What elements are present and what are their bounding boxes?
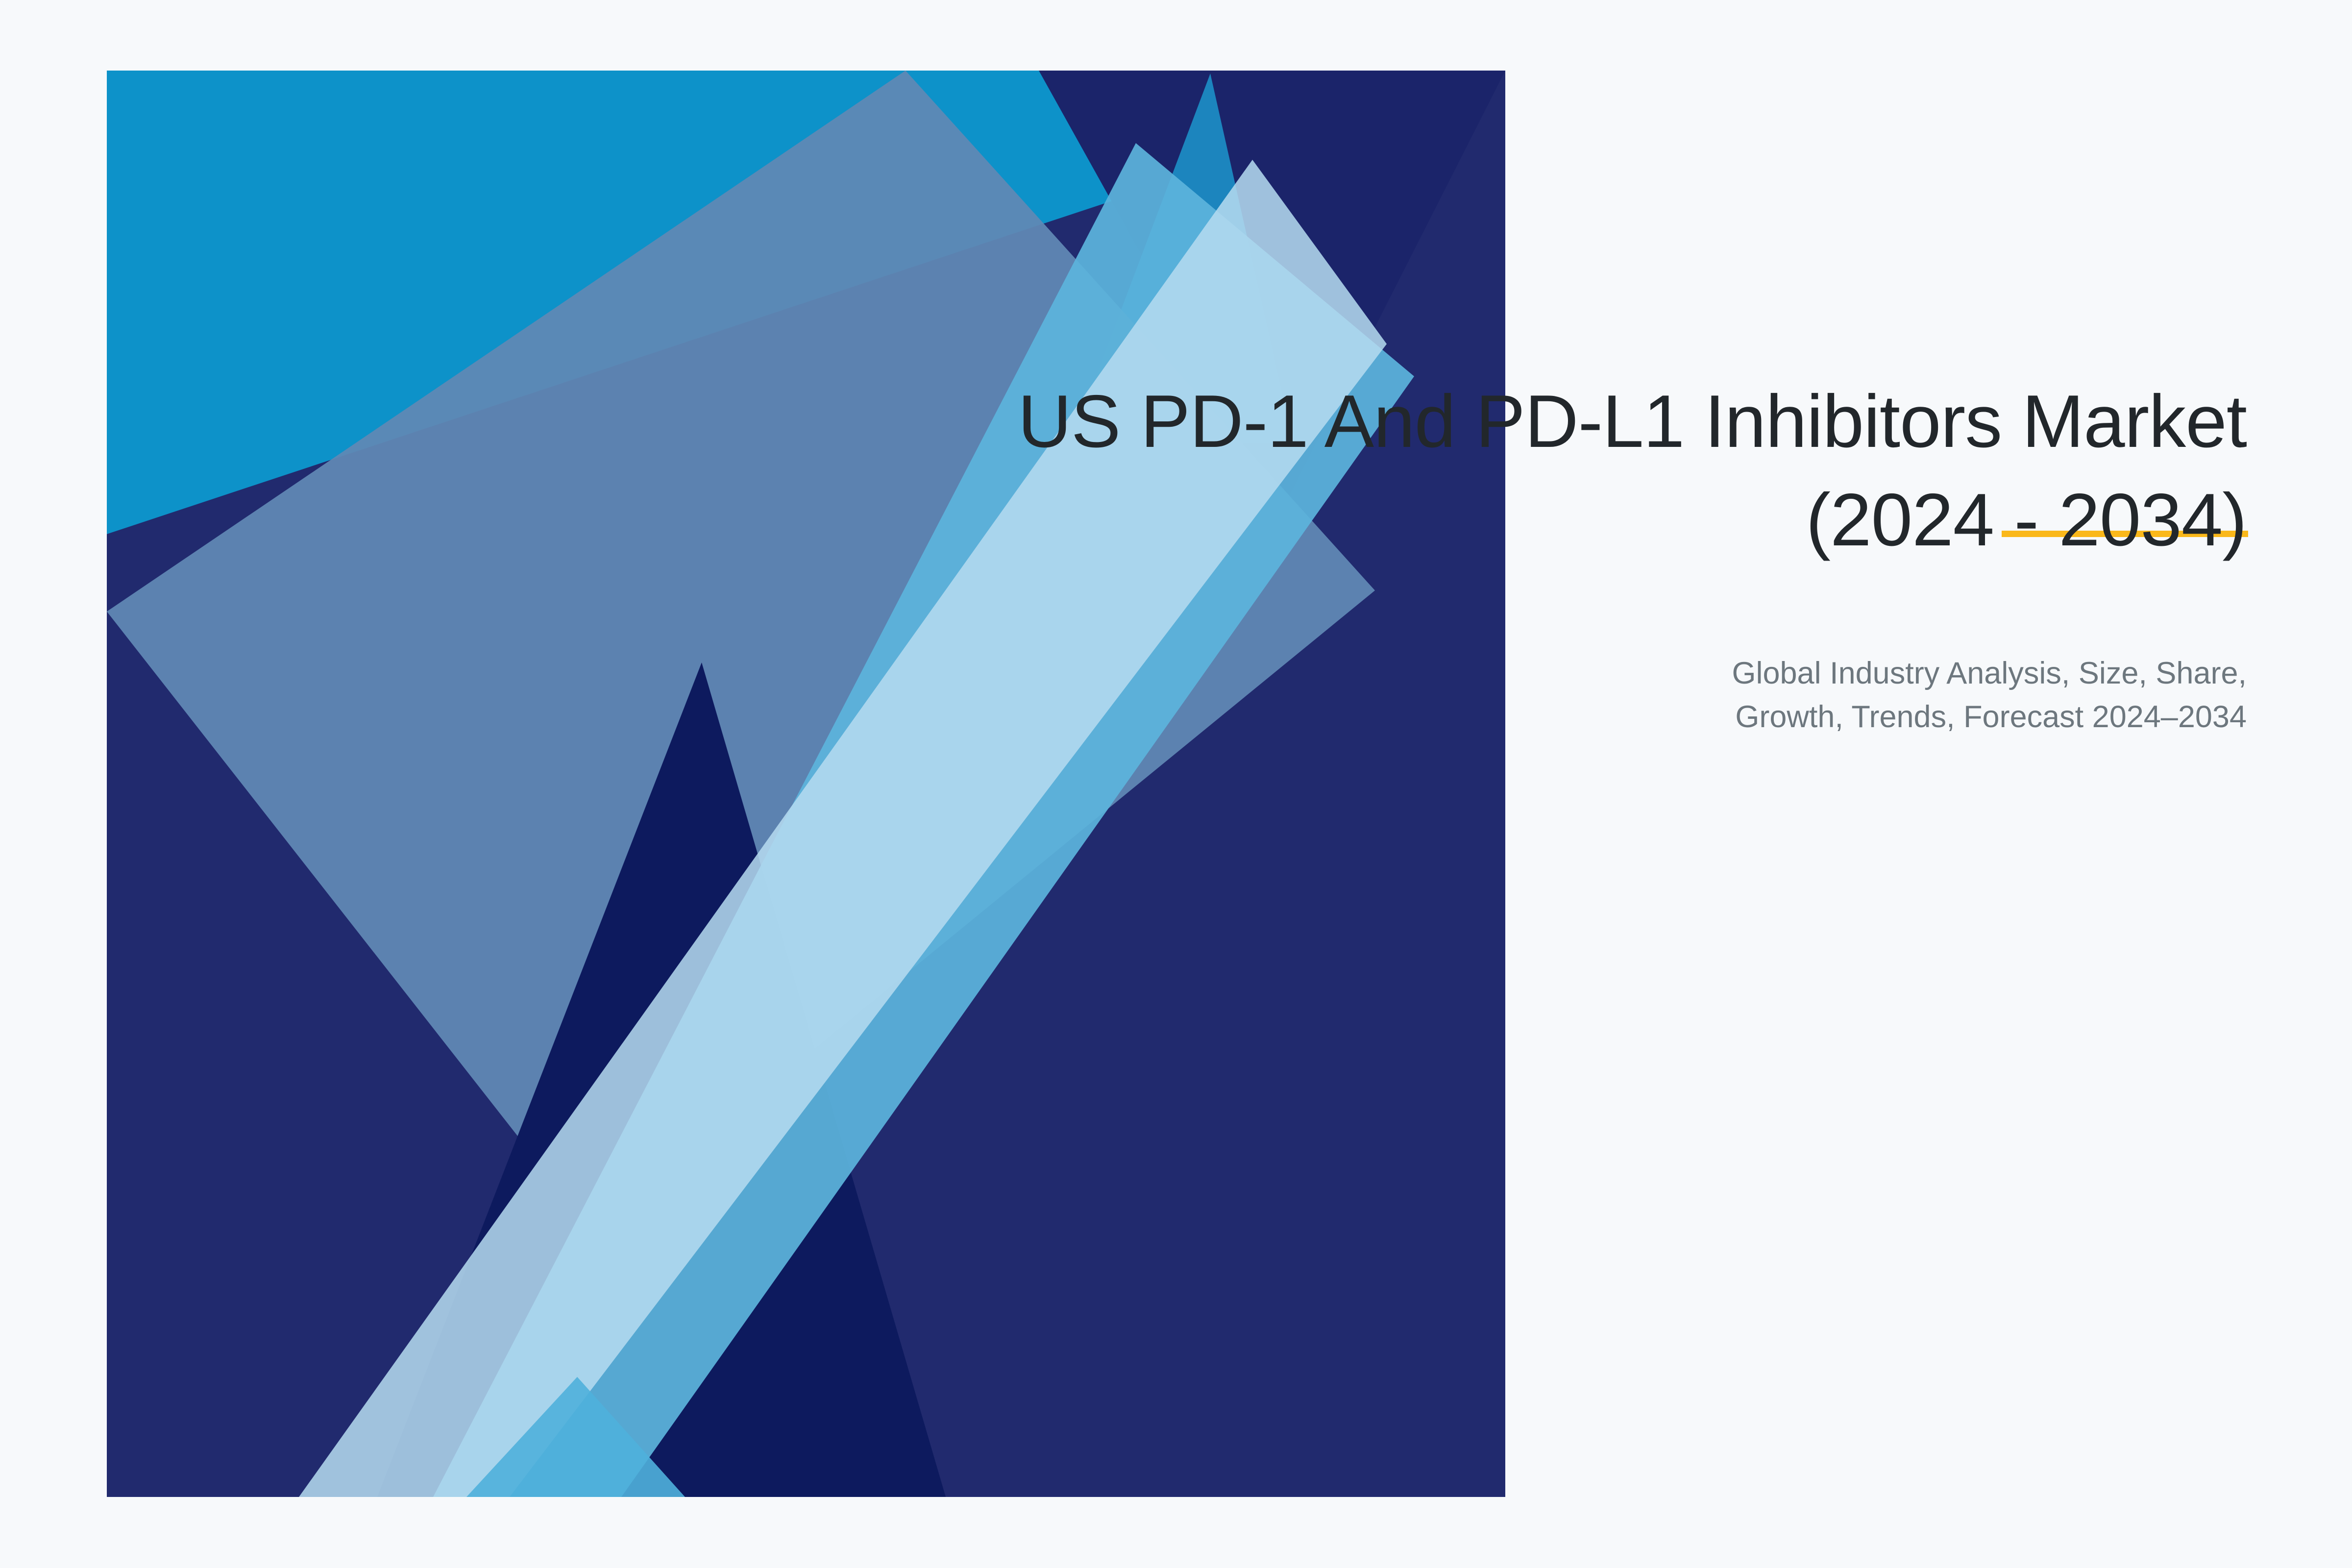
cover-subtitle-line1: Global Industry Analysis, Size, Share, [1732, 656, 2247, 690]
sky-blue-bottom-notch [466, 1377, 685, 1497]
sky-blue-band [433, 143, 1414, 1497]
indigo-upper-band [107, 71, 1505, 1497]
deep-navy-v-shape [377, 662, 946, 1497]
abstract-polygon-cover-graphic [0, 0, 2352, 1568]
cover-subtitle: Global Industry Analysis, Size, Share,Gr… [1274, 652, 2247, 739]
page-title: US PD-1 And PD-L1 Inhibitors Market(2024… [735, 372, 2247, 569]
cover-title-line2: (2024 - 2034) [1806, 478, 2247, 562]
cover-title-line1: US PD-1 And PD-L1 Inhibitors Market [1018, 380, 2247, 463]
steel-blue-quad [107, 71, 1375, 1231]
pale-blue-band [299, 160, 1387, 1497]
cover-subtitle-text: Global Industry Analysis, Size, Share,Gr… [1274, 652, 2247, 739]
cover-slide: US PD-1 And PD-L1 Inhibitors Market(2024… [0, 0, 2352, 1568]
cover-title-text: US PD-1 And PD-L1 Inhibitors Market(2024… [735, 372, 2247, 569]
cover-subtitle-line2: Growth, Trends, Forecast 2024–2034 [1735, 700, 2247, 734]
